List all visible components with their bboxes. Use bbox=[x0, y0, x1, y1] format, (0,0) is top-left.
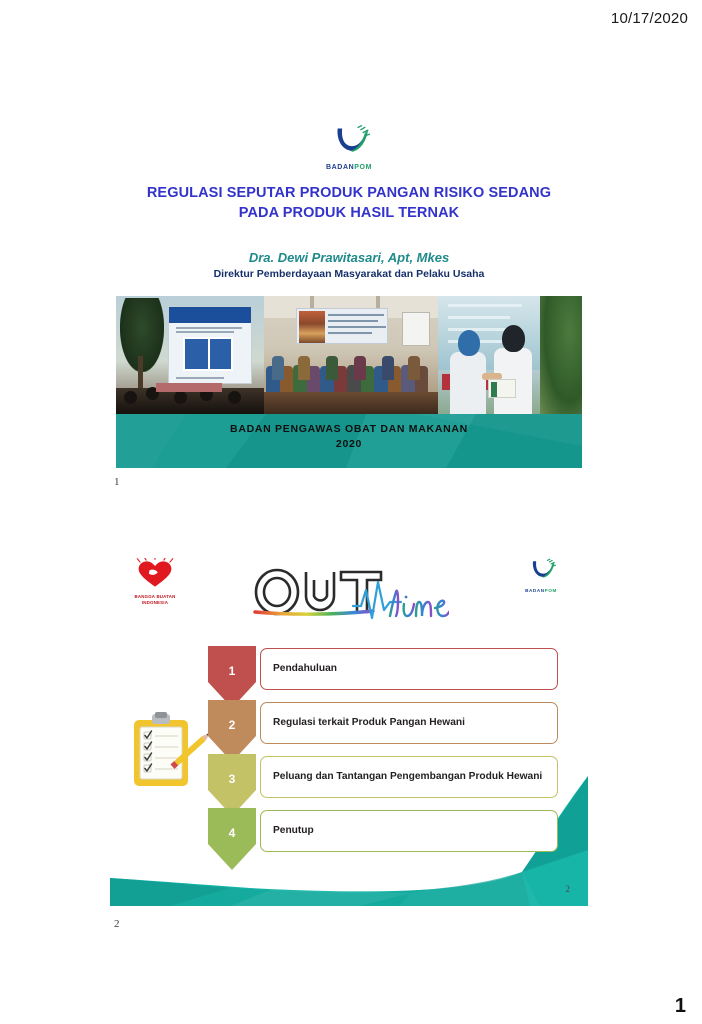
slide-1-title: REGULASI SEPUTAR PRODUK PANGAN RISIKO SE… bbox=[110, 184, 588, 223]
organization-block: BADAN PENGAWAS OBAT DAN MAKANAN 2020 bbox=[116, 422, 582, 452]
speaker-role: Direktur Pemberdayaan Masyarakat dan Pel… bbox=[110, 268, 588, 280]
agenda-box[interactable]: Regulasi terkait Produk Pangan Hewani bbox=[260, 702, 558, 744]
photo-seminar-group bbox=[264, 296, 438, 414]
organization-name: BADAN PENGAWAS OBAT DAN MAKANAN bbox=[116, 422, 582, 437]
heart-icon bbox=[127, 558, 183, 588]
agenda-label: Peluang dan Tantangan Pengembangan Produ… bbox=[273, 770, 542, 784]
outline-heading-graphic bbox=[249, 566, 449, 628]
agenda-label: Pendahuluan bbox=[273, 662, 337, 676]
logo-word-badan: BADAN bbox=[326, 164, 354, 171]
agenda-box[interactable]: Peluang dan Tantangan Pengembangan Produ… bbox=[260, 756, 558, 798]
photo-band: BADAN PENGAWAS OBAT DAN MAKANAN 2020 bbox=[116, 296, 582, 468]
photo-booth-banner bbox=[116, 296, 264, 414]
bangga-line-2: INDONESIA bbox=[124, 600, 186, 606]
bangga-logo-text: BANGGA BUATAN INDONESIA bbox=[124, 594, 186, 605]
slide-2-number: 2 bbox=[114, 918, 120, 930]
badan-pom-mark bbox=[306, 124, 392, 158]
agenda-box[interactable]: Penutup bbox=[260, 810, 558, 852]
speaker-name: Dra. Dewi Prawitasari, Apt, Mkes bbox=[110, 250, 588, 265]
agenda-number: 2 bbox=[208, 718, 256, 732]
agenda-number: 4 bbox=[208, 826, 256, 840]
bangga-buatan-indonesia-logo: BANGGA BUATAN INDONESIA bbox=[124, 558, 186, 605]
agenda-item[interactable]: 3 Peluang dan Tantangan Pengembangan Pro… bbox=[208, 754, 558, 806]
organization-year: 2020 bbox=[116, 437, 582, 452]
slide-2-page-marker: 2 bbox=[566, 884, 571, 894]
agenda-number: 1 bbox=[208, 664, 256, 678]
badan-pom-logo: BADANPOM bbox=[516, 558, 566, 593]
photo-row bbox=[116, 296, 582, 414]
photo-certificate-handover bbox=[438, 296, 582, 414]
document-page-number: 1 bbox=[675, 995, 686, 1018]
slide-1: BADANPOM REGULASI SEPUTAR PRODUK PANGAN … bbox=[110, 118, 588, 468]
clipboard-checklist-icon bbox=[128, 710, 214, 794]
agenda-item[interactable]: 2 Regulasi terkait Produk Pangan Hewani bbox=[208, 700, 558, 752]
agenda-item[interactable]: 4 Penutup bbox=[208, 808, 558, 860]
agenda-list: 1 Pendahuluan 2 Regulasi terkait Produk … bbox=[208, 646, 558, 862]
badan-pom-mark bbox=[521, 558, 561, 582]
slide-2: BANGGA BUATAN INDONESIA BADANPOM bbox=[110, 548, 588, 906]
title-line-1: REGULASI SEPUTAR PRODUK PANGAN RISIKO SE… bbox=[110, 184, 588, 204]
slide-1-number: 1 bbox=[114, 476, 120, 488]
badan-pom-wordmark: BADANPOM bbox=[306, 164, 392, 171]
document-date: 10/17/2020 bbox=[611, 10, 688, 27]
agenda-label: Regulasi terkait Produk Pangan Hewani bbox=[273, 716, 465, 730]
agenda-item[interactable]: 1 Pendahuluan bbox=[208, 646, 558, 698]
logo-word-pom: POM bbox=[545, 588, 557, 593]
title-line-2: PADA PRODUK HASIL TERNAK bbox=[110, 204, 588, 224]
agenda-number: 3 bbox=[208, 772, 256, 786]
logo-word-pom: POM bbox=[354, 164, 372, 171]
badan-pom-wordmark: BADANPOM bbox=[516, 588, 566, 593]
badan-pom-logo: BADANPOM bbox=[306, 124, 392, 171]
agenda-label: Penutup bbox=[273, 824, 314, 838]
logo-word-badan: BADAN bbox=[525, 588, 545, 593]
agenda-box[interactable]: Pendahuluan bbox=[260, 648, 558, 690]
